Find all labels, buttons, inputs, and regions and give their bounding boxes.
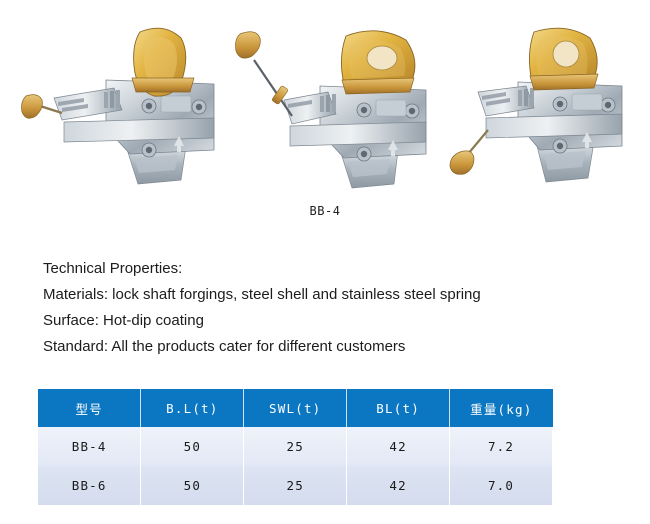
column-header-model: 型号 <box>38 389 141 427</box>
product-image-twistlock-left <box>18 18 228 193</box>
specification-table: 型号 B.L(t) SWL(t) BL(t) 重量(kg) BB-4 50 25… <box>38 389 553 505</box>
twistlock-left-graphic <box>18 18 228 193</box>
cell-weight-bb6: 7.0 <box>450 466 553 505</box>
column-header-swl: SWL(t) <box>244 389 347 427</box>
table-row: BB-4 50 25 42 7.2 <box>38 427 553 466</box>
spec-line-standard: Standard: All the products cater for dif… <box>43 334 623 360</box>
cell-bl-capital-bb4: 50 <box>141 427 244 466</box>
product-gallery: BB-4 <box>0 0 650 200</box>
cell-bl-capital-bb6: 50 <box>141 466 244 505</box>
cell-swl-bb6: 25 <box>244 466 347 505</box>
cell-bl-bb4: 42 <box>347 427 450 466</box>
product-image-twistlock-center <box>228 18 433 198</box>
table-row: BB-6 50 25 42 7.0 <box>38 466 553 505</box>
table-header-row: 型号 B.L(t) SWL(t) BL(t) 重量(kg) <box>38 389 553 427</box>
spec-line-title: Technical Properties: <box>43 256 623 282</box>
technical-properties-block: Technical Properties: Materials: lock sh… <box>43 256 623 360</box>
cell-model-bb6: BB-6 <box>38 466 141 505</box>
spec-line-surface: Surface: Hot-dip coating <box>43 308 623 334</box>
cell-weight-bb4: 7.2 <box>450 427 553 466</box>
gallery-caption: BB-4 <box>0 204 650 218</box>
column-header-bl-capital: B.L(t) <box>141 389 244 427</box>
product-image-twistlock-right <box>448 20 648 195</box>
spec-line-materials: Materials: lock shaft forgings, steel sh… <box>43 282 623 308</box>
column-header-weight: 重量(kg) <box>450 389 553 427</box>
table-body: BB-4 50 25 42 7.2 BB-6 50 25 42 7.0 <box>38 427 553 505</box>
cell-swl-bb4: 25 <box>244 427 347 466</box>
specification-table-wrapper: 型号 B.L(t) SWL(t) BL(t) 重量(kg) BB-4 50 25… <box>38 389 553 505</box>
column-header-bl: BL(t) <box>347 389 450 427</box>
cell-model-bb4: BB-4 <box>38 427 141 466</box>
twistlock-right-graphic <box>448 20 648 195</box>
twistlock-center-graphic <box>228 18 433 198</box>
table-header: 型号 B.L(t) SWL(t) BL(t) 重量(kg) <box>38 389 553 427</box>
cell-bl-bb6: 42 <box>347 466 450 505</box>
